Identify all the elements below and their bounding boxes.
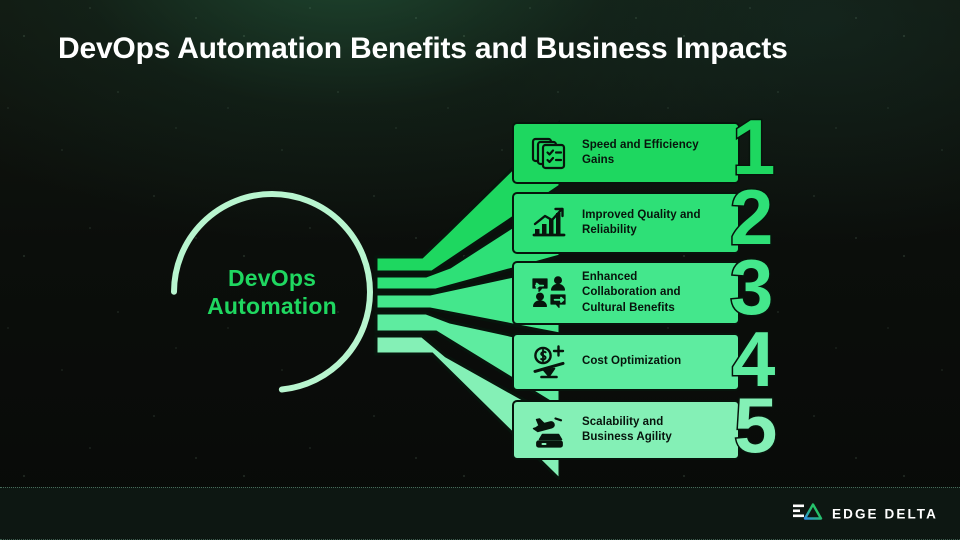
benefit-row-4[interactable]: Cost Optimization <box>512 333 740 391</box>
benefit-row-2[interactable]: Improved Quality andReliability <box>512 192 740 254</box>
edge-delta-logo: EDGE DELTA <box>793 501 938 526</box>
benefit-number-5: 5 <box>734 386 774 464</box>
benefit-row-1[interactable]: Speed and EfficiencyGains <box>512 122 740 184</box>
footer-bar: EDGE DELTA <box>0 487 960 540</box>
benefit-label-3: EnhancedCollaboration andCultural Benefi… <box>582 270 681 316</box>
edge-delta-logo-text: EDGE DELTA <box>832 506 938 521</box>
benefit-row-3[interactable]: EnhancedCollaboration andCultural Benefi… <box>512 261 740 325</box>
benefit-label-1: Speed and EfficiencyGains <box>582 138 699 169</box>
cost-balance-icon <box>530 343 568 381</box>
stacked-checklist-icon <box>530 134 568 172</box>
page-title: DevOps Automation Benefits and Business … <box>58 32 788 66</box>
collaboration-icon <box>530 274 568 312</box>
growth-bar-chart-icon <box>530 204 568 242</box>
hub-label-line1: DevOps <box>228 264 316 292</box>
hub-label-line2: Automation <box>207 292 337 320</box>
benefit-label-2: Improved Quality andReliability <box>582 208 701 239</box>
plane-takeoff-icon <box>530 411 568 449</box>
benefit-label-5: Scalability andBusiness Agility <box>582 415 672 446</box>
hub-label: DevOps Automation <box>168 188 376 396</box>
hub-circle: DevOps Automation <box>168 188 376 396</box>
benefit-label-4: Cost Optimization <box>582 354 681 369</box>
edge-delta-logo-icon <box>793 501 823 526</box>
benefit-row-5[interactable]: Scalability andBusiness Agility <box>512 400 740 460</box>
